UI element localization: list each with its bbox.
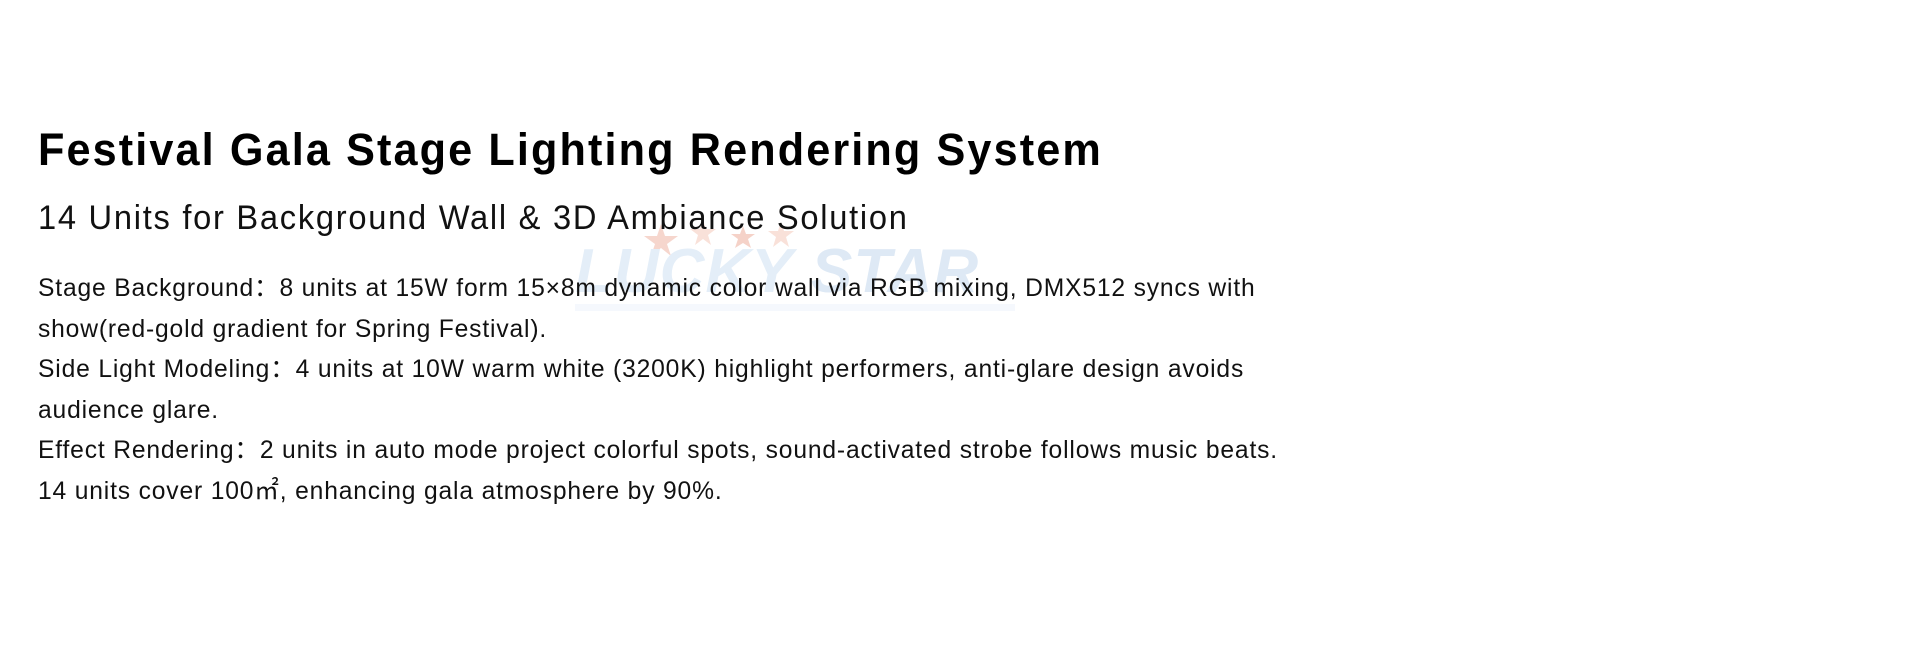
body-line: 14 units cover 100㎡, enhancing gala atmo… [38,471,1516,512]
body-text-block: Stage Background：8 units at 15W form 15×… [38,268,1538,511]
body-line: Side Light Modeling：4 units at 10W warm … [38,349,1516,390]
body-line: show(red-gold gradient for Spring Festiv… [38,309,1516,350]
body-line: Effect Rendering：2 units in auto mode pr… [38,430,1516,471]
page-root: LUCKY STAR Festival Gala Stage Lighting … [0,0,1920,654]
page-subtitle: 14 Units for Background Wall & 3D Ambian… [38,197,909,239]
body-line: audience glare. [38,390,1516,431]
page-title: Festival Gala Stage Lighting Rendering S… [38,124,1103,176]
body-line: Stage Background：8 units at 15W form 15×… [38,268,1516,309]
